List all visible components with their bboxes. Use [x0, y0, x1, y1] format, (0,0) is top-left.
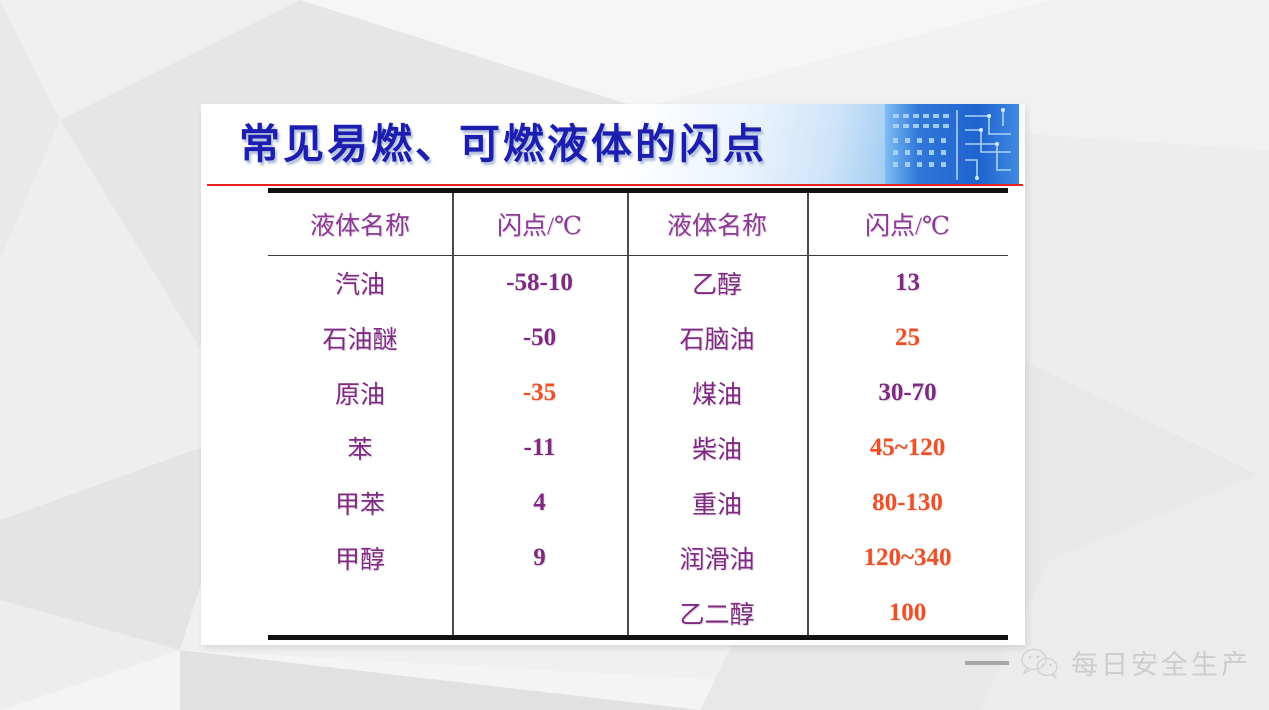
watermark-dash [965, 661, 1009, 665]
column-header-flash-point-left: 闪点/℃ [452, 193, 627, 255]
cell-flash-point-left: 4 [452, 475, 627, 530]
cell-flash-point-right: 13 [807, 255, 1008, 310]
cell-liquid-name-left: 原油 [268, 365, 452, 420]
cell-flash-point-right: 30-70 [807, 365, 1008, 420]
cell-liquid-name-left: 甲苯 [268, 475, 452, 530]
cell-liquid-name-left: 石油醚 [268, 310, 452, 365]
cell-liquid-name-right: 煤油 [627, 365, 807, 420]
column-header-liquid-name-right: 液体名称 [627, 193, 807, 255]
cell-liquid-name-right: 乙二醇 [627, 585, 807, 640]
slide-header: 常见易燃、可燃液体的闪点 [201, 104, 1025, 186]
table-row: 甲苯4重油80-130 [268, 475, 1008, 530]
table-row: 原油-35煤油30-70 [268, 365, 1008, 420]
flash-point-table: 液体名称 闪点/℃ 液体名称 闪点/℃ 汽油-58-10乙醇13石油醚-50石脑… [268, 188, 1008, 640]
watermark: 每日安全生产 [965, 643, 1251, 682]
cell-liquid-name-left: 苯 [268, 420, 452, 475]
table-row: 甲醇9润滑油120~340 [268, 530, 1008, 585]
circuit-board-graphic [885, 104, 1019, 186]
cell-liquid-name-right: 石脑油 [627, 310, 807, 365]
cell-flash-point-right: 80-130 [807, 475, 1008, 530]
title-underline [207, 184, 1023, 186]
cell-liquid-name-left: 甲醇 [268, 530, 452, 585]
table-header-row: 液体名称 闪点/℃ 液体名称 闪点/℃ [268, 193, 1008, 255]
cell-flash-point-right: 45~120 [807, 420, 1008, 475]
cell-flash-point-left [452, 585, 627, 640]
cell-flash-point-right: 25 [807, 310, 1008, 365]
watermark-text: 每日安全生产 [1071, 643, 1251, 682]
cell-liquid-name-right: 乙醇 [627, 255, 807, 310]
cell-liquid-name-right: 柴油 [627, 420, 807, 475]
table-body: 汽油-58-10乙醇13石油醚-50石脑油25原油-35煤油30-70苯-11柴… [268, 255, 1008, 640]
cell-liquid-name-left [268, 585, 452, 640]
wechat-icon [1019, 647, 1061, 679]
cell-flash-point-left: 9 [452, 530, 627, 585]
cell-liquid-name-left: 汽油 [268, 255, 452, 310]
cell-flash-point-left: -50 [452, 310, 627, 365]
page-title: 常见易燃、可燃液体的闪点 [239, 110, 767, 170]
slide-card: 常见易燃、可燃液体的闪点 液体名称 闪点/℃ 液体名称 闪点/℃ 汽油-58-1… [201, 104, 1025, 645]
cell-flash-point-left: -58-10 [452, 255, 627, 310]
column-header-flash-point-right: 闪点/℃ [807, 193, 1008, 255]
column-header-liquid-name-left: 液体名称 [268, 193, 452, 255]
table-row: 乙二醇100 [268, 585, 1008, 640]
table-row: 石油醚-50石脑油25 [268, 310, 1008, 365]
cell-flash-point-left: -11 [452, 420, 627, 475]
cell-flash-point-right: 120~340 [807, 530, 1008, 585]
cell-liquid-name-right: 润滑油 [627, 530, 807, 585]
cell-liquid-name-right: 重油 [627, 475, 807, 530]
cell-flash-point-right: 100 [807, 585, 1008, 640]
table-row: 苯-11柴油45~120 [268, 420, 1008, 475]
table-row: 汽油-58-10乙醇13 [268, 255, 1008, 310]
cell-flash-point-left: -35 [452, 365, 627, 420]
